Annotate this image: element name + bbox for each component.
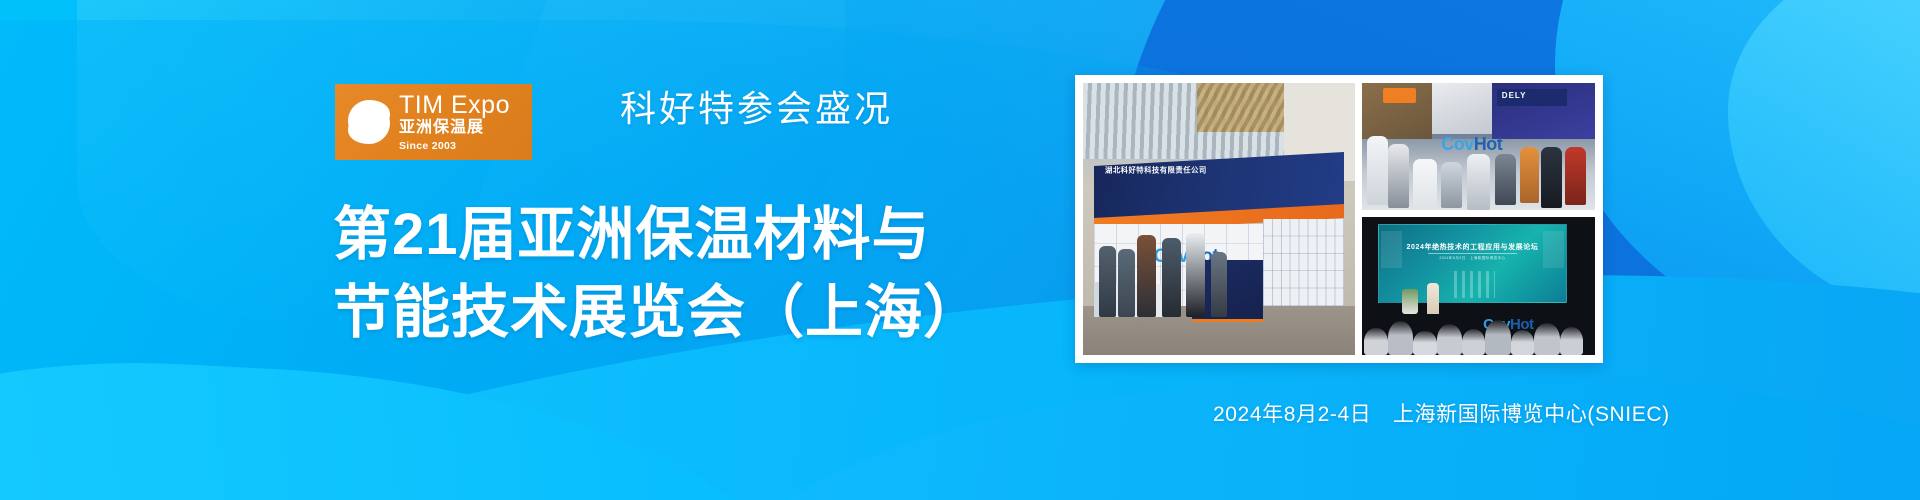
- brand-cov-text: Cov: [1441, 134, 1474, 154]
- logo-text-block: TIM Expo 亚洲保温展 Since 2003: [399, 93, 510, 152]
- forum-screen-subtitle: 2024年8月3日 上海新国际博览中心: [1439, 256, 1505, 261]
- venue-date-line: 2024年8月2-4日 上海新国际博览中心(SNIEC): [1213, 398, 1670, 428]
- audience-member: [1511, 330, 1534, 355]
- booth-poster-wall-right: [1263, 219, 1345, 306]
- audience-member: [1413, 331, 1436, 355]
- crowd-orange-signage: [1383, 88, 1416, 103]
- audience-member: [1485, 320, 1511, 355]
- booth-visitor: [1162, 238, 1181, 317]
- audience-member: [1560, 327, 1583, 355]
- photo-visitor-crowd: DELY CovHot: [1362, 83, 1595, 210]
- forum-screen-panel-right: [1543, 231, 1564, 268]
- photo-forum-presentation: 2024年绝热技术的工程应用与发展论坛 2024年8月3日 上海新国际博览中心 …: [1362, 217, 1595, 355]
- banner-subtitle: 科好特参会盛况: [620, 80, 893, 132]
- forum-screen-chart: [1454, 271, 1495, 297]
- headline-line-1: 第21届亚洲保温材料与: [333, 196, 993, 274]
- tim-expo-swoosh-icon: [343, 96, 395, 148]
- crowd-person: [1520, 147, 1539, 203]
- audience-member: [1364, 328, 1387, 355]
- photo-collage: 湖北科好特科技有限责任公司 HUBEI COVHOT TECHNOLOGY CO…: [1075, 75, 1603, 363]
- audience-member: [1462, 329, 1485, 355]
- collage-right-column: DELY CovHot 2024年绝热技术的工程应用与发展论坛: [1362, 83, 1595, 355]
- crowd-booth-middle: [1432, 83, 1493, 134]
- headline-line-2: 节能技术展览会（上海）: [333, 274, 993, 352]
- forum-screen-panel-left: [1381, 231, 1402, 268]
- crowd-person: [1388, 144, 1409, 208]
- crowd-dely-sign-text: DELY: [1502, 91, 1527, 100]
- crowd-person: [1441, 162, 1462, 208]
- tim-expo-logo: TIM Expo 亚洲保温展 Since 2003: [335, 84, 532, 160]
- logo-name-cn: 亚洲保温展: [399, 120, 510, 136]
- booth-visitor: [1099, 246, 1115, 317]
- brand-hot-text: Hot: [1474, 134, 1503, 154]
- photo-exhibition-booth: 湖北科好特科技有限责任公司 HUBEI COVHOT TECHNOLOGY CO…: [1083, 83, 1355, 355]
- audience-member: [1534, 323, 1560, 355]
- booth-company-name-cn: 湖北科好特科技有限责任公司: [1105, 165, 1207, 175]
- booth-visitor: [1211, 252, 1227, 317]
- crowd-person: [1367, 136, 1388, 205]
- crowd-person: [1565, 147, 1586, 206]
- booth-visitor: [1186, 233, 1205, 317]
- collage-left-column: 湖北科好特科技有限责任公司 HUBEI COVHOT TECHNOLOGY CO…: [1083, 83, 1355, 355]
- booth-visitor: [1118, 249, 1134, 317]
- forum-screen-divider: [1428, 253, 1517, 254]
- page-title: 第21届亚洲保温材料与 节能技术展览会（上海）: [333, 196, 993, 353]
- crowd-person: [1541, 147, 1562, 208]
- crowd-person: [1413, 159, 1436, 210]
- audience-member: [1437, 324, 1463, 355]
- crowd-person: [1467, 154, 1490, 210]
- audience-member: [1388, 321, 1414, 355]
- logo-since-label: Since 2003: [399, 141, 510, 152]
- booth-visitor: [1137, 235, 1156, 317]
- expo-banner: TIM Expo 亚洲保温展 Since 2003 科好特参会盛况 第21届亚洲…: [0, 0, 1920, 500]
- crowd-person: [1495, 154, 1516, 205]
- forum-audience: [1362, 308, 1595, 355]
- forum-screen-title: 2024年绝热技术的工程应用与发展论坛: [1406, 242, 1538, 252]
- left-content-column: TIM Expo 亚洲保温展 Since 2003 科好特参会盛况 第21届亚洲…: [0, 0, 1040, 500]
- crowd-brand-logo: CovHot: [1441, 134, 1502, 155]
- logo-name-en: TIM Expo: [399, 93, 510, 118]
